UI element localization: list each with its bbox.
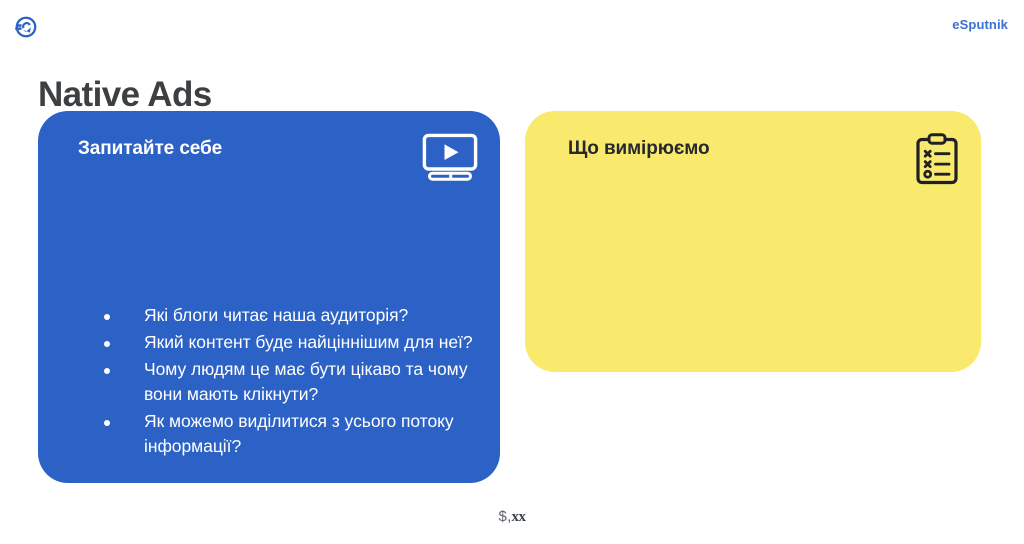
card-heading: Запитайте себе: [78, 138, 222, 160]
card-what-we-measure: Що вимірюємо: [525, 111, 981, 372]
footer-amount-placeholder: xx: [511, 509, 525, 525]
list-item: Який контент буде найціннішим для неї?: [104, 330, 504, 355]
list-item: Як можемо виділитися з усього потоку інф…: [104, 409, 504, 459]
esputnik-logo-icon[interactable]: [14, 15, 38, 39]
list-item: Які блоги читає наша аудиторія?: [104, 303, 504, 328]
list-item-label: Який контент буде найціннішим для неї?: [144, 330, 473, 355]
ask-yourself-list: Які блоги читає наша аудиторія? Який кон…: [104, 303, 504, 461]
list-item-label: Як можемо виділитися з усього потоку інф…: [144, 409, 504, 459]
footer-currency-prefix: $,: [499, 508, 512, 525]
clipboard-checklist-icon: [915, 133, 959, 185]
footer-price-note: $,xx: [0, 508, 1024, 526]
list-item-label: Які блоги читає наша аудиторія?: [144, 303, 408, 328]
card-ask-yourself: Запитайте себе Які блоги читає наша ауди…: [38, 111, 500, 483]
dot-bullet-icon: [104, 368, 110, 374]
card-header: Що вимірюємо: [525, 111, 981, 189]
slide-canvas: eSputnik Native Ads Запитайте себе Які б…: [0, 0, 1024, 544]
list-item-label: Чому людям це має бути цікаво та чому во…: [144, 357, 504, 407]
dot-bullet-icon: [104, 314, 110, 320]
card-header: Запитайте себе: [38, 111, 500, 189]
list-item: Чому людям це має бути цікаво та чому во…: [104, 357, 504, 407]
monitor-play-icon: [422, 133, 478, 181]
brand-name: eSputnik: [952, 17, 1008, 32]
card-heading: Що вимірюємо: [568, 138, 709, 160]
dot-bullet-icon: [104, 341, 110, 347]
page-title: Native Ads: [38, 75, 212, 115]
dot-bullet-icon: [104, 420, 110, 426]
